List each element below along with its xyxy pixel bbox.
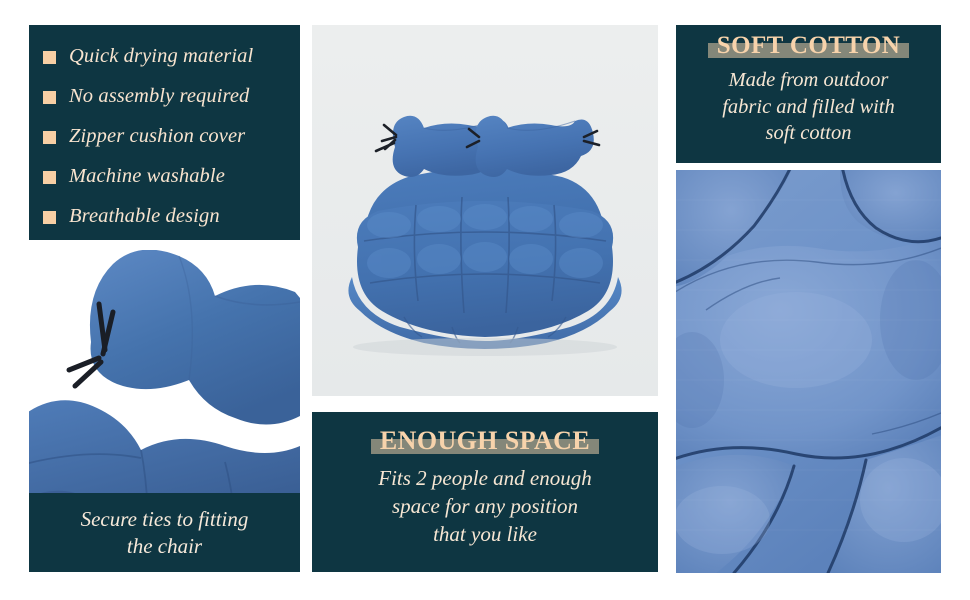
- bullet-square-icon: [43, 131, 56, 144]
- page-title: ENOUGH SPACE: [380, 426, 590, 455]
- body-line-2: space for any position: [312, 493, 658, 521]
- feature-label: No assembly required: [69, 85, 249, 108]
- enough-space-heading-wrap: ENOUGH SPACE: [371, 426, 599, 456]
- feature-label: Quick drying material: [69, 45, 253, 68]
- list-item: No assembly required: [43, 79, 300, 114]
- bullet-square-icon: [43, 91, 56, 104]
- body-line-1: Fits 2 people and enough: [312, 465, 658, 493]
- bullet-square-icon: [43, 171, 56, 184]
- feature-label: Machine washable: [69, 165, 225, 188]
- product-photo-main: [312, 25, 658, 396]
- list-item: Zipper cushion cover: [43, 119, 300, 154]
- fabric-texture-illustration: [676, 170, 941, 573]
- soft-cotton-panel: SOFT COTTON Made from outdoor fabric and…: [676, 25, 941, 163]
- feature-label: Breathable design: [69, 205, 220, 228]
- bullet-square-icon: [43, 211, 56, 224]
- body-line-1: Made from outdoor: [676, 67, 941, 94]
- body-line-2: fabric and filled with: [676, 94, 941, 121]
- body-line-3: that you like: [312, 521, 658, 549]
- body-line-3: soft cotton: [676, 120, 941, 147]
- bullet-square-icon: [43, 51, 56, 64]
- product-photo-fabric-texture: [676, 170, 941, 573]
- enough-space-body: Fits 2 people and enough space for any p…: [312, 465, 658, 549]
- left-photo-caption: Secure ties to fitting the chair: [29, 493, 300, 572]
- enough-space-panel: ENOUGH SPACE Fits 2 people and enough sp…: [312, 412, 658, 572]
- list-item: Quick drying material: [43, 39, 300, 74]
- egg-chair-cushion-illustration: [312, 25, 658, 396]
- caption-text: Secure ties to fitting the chair: [81, 506, 249, 560]
- list-item: Breathable design: [43, 199, 300, 234]
- caption-line-2: the chair: [81, 533, 249, 560]
- caption-line-1: Secure ties to fitting: [81, 506, 249, 533]
- page-title: SOFT COTTON: [717, 32, 900, 59]
- feature-list-panel: Quick drying material No assembly requir…: [29, 25, 300, 240]
- infographic-canvas: Quick drying material No assembly requir…: [0, 0, 970, 600]
- list-item: Machine washable: [43, 159, 300, 194]
- feature-label: Zipper cushion cover: [69, 125, 245, 148]
- soft-cotton-body: Made from outdoor fabric and filled with…: [676, 67, 941, 147]
- soft-cotton-heading-wrap: SOFT COTTON: [708, 32, 909, 60]
